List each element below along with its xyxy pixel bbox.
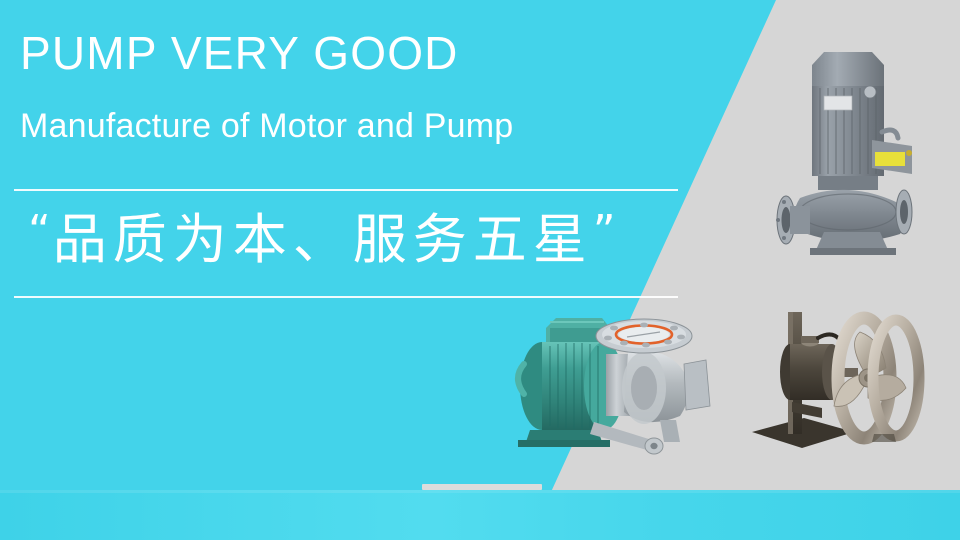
page-subtitle: Manufacture of Motor and Pump	[20, 108, 513, 145]
quote-open: “	[28, 206, 53, 257]
slogan-text: 品质为本、服务五星	[53, 208, 593, 271]
bottom-gray-tab	[422, 484, 542, 490]
bottom-accent-bar	[0, 490, 960, 540]
page-title: PUMP VERY GOOD	[20, 28, 459, 79]
quote-close: ”	[593, 206, 618, 257]
divider-bottom	[14, 296, 678, 298]
product-image-horizontal-centrifugal-pump	[494, 302, 736, 470]
product-image-vertical-inline-pump	[762, 40, 958, 270]
slogan-chinese: “品质为本、服务五星”	[28, 198, 618, 282]
promo-banner: PUMP VERY GOOD Manufacture of Motor and …	[0, 0, 960, 540]
product-image-submersible-mixer	[744, 292, 942, 472]
divider-top	[14, 189, 678, 191]
bottom-bar-highlight	[0, 490, 960, 493]
